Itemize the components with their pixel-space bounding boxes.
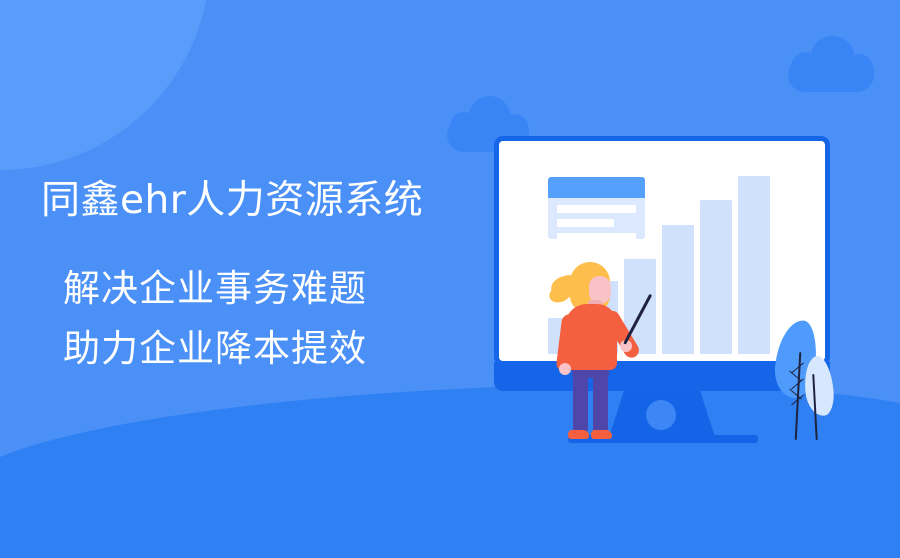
headline-copy-block: 同鑫ehr人力资源系统 解决企业事务难题 助力企业降本提效 xyxy=(0,0,470,558)
shoe-right xyxy=(591,430,612,439)
leg-left xyxy=(573,365,588,433)
monitor-stand-knob xyxy=(646,400,676,430)
plant-decoration xyxy=(772,318,842,444)
cloud-body xyxy=(788,58,874,92)
promo-banner: 同鑫ehr人力资源系统 解决企业事务难题 助力企业降本提效 xyxy=(0,0,900,558)
bar-chart-bar xyxy=(738,176,770,354)
plant-leaf-small xyxy=(802,355,835,417)
page-title: 同鑫ehr人力资源系统 xyxy=(41,181,423,220)
cloud-icon-top-right xyxy=(788,36,874,94)
presenter-character xyxy=(549,262,639,444)
subtitle-line-1: 解决企业事务难题 xyxy=(63,270,367,307)
leg-right xyxy=(593,365,608,433)
hand-left xyxy=(559,363,571,375)
bar-chart-bar xyxy=(700,200,732,354)
subtitle-line-2: 助力企业降本提效 xyxy=(63,330,367,367)
bar-chart-bar xyxy=(662,225,694,354)
shoe-left xyxy=(568,430,589,439)
